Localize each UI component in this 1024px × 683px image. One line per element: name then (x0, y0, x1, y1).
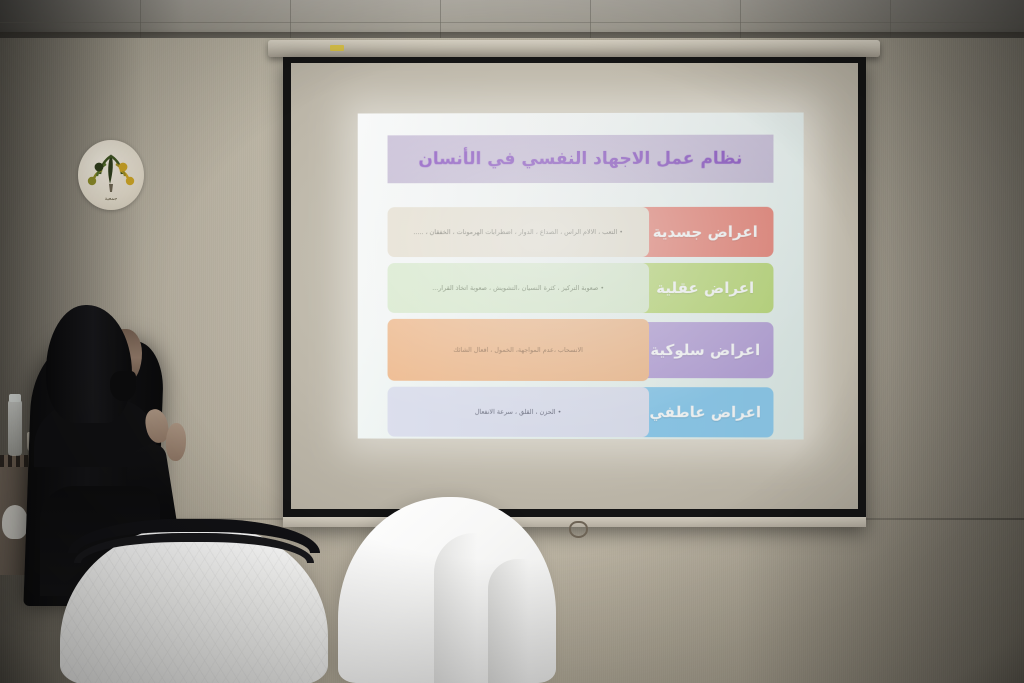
slide-row-mental: اعراض عقلية • صعوبة التركيز ، كثرة النسي… (388, 263, 774, 313)
row-body-emotional: • الحزن ، القلق ، سرعة الانفعال (388, 387, 650, 437)
row-body-physical: • التعب ، الالام الراس ، الصداع ، الدوار… (388, 207, 650, 257)
slide-row-physical: اعراض جسدية • التعب ، الالام الراس ، الص… (388, 207, 774, 257)
presenter-hand-right (165, 422, 188, 461)
slide-content: نظام عمل الاجهاد النفسي في الأنسان اعراض… (358, 113, 804, 440)
attendee-right-ghutra (338, 497, 556, 683)
attendee-right (330, 493, 570, 683)
slide-title-text: نظام عمل الاجهاد النفسي في الأنسان (418, 149, 742, 170)
row-body-mental: • صعوبة التركيز ، كثرة النسيان ،التشويش … (388, 263, 650, 313)
svg-text:جمعية: جمعية (105, 196, 118, 202)
row-tag-mental: اعراض عقلية (637, 263, 773, 313)
slide-rows: اعراض جسدية • التعب ، الالام الراس ، الص… (388, 207, 774, 440)
organization-logo: جمعية (78, 140, 144, 210)
row-text-physical: • التعب ، الالام الراس ، الصداع ، الدوار… (413, 228, 623, 237)
conference-room-scene: جمعية نظام عمل الاجهاد النفسي في الأنسان… (0, 0, 1024, 683)
slide-row-emotional: اعراض عاطفي • الحزن ، القلق ، سرعة الانف… (388, 387, 774, 438)
ghutra-fold (434, 533, 496, 683)
slide-title-bar: نظام عمل الاجهاد النفسي في الأنسان (388, 135, 774, 184)
presenter-chin-veil (110, 371, 136, 401)
row-text-mental: • صعوبة التركيز ، كثرة النسيان ،التشويش … (432, 284, 604, 293)
ghutra-fold-secondary (488, 559, 542, 683)
screen-pull-ring[interactable] (569, 521, 588, 538)
presenter-hijab (46, 305, 132, 423)
slide-row-behavioral: اعراض سلوكية الانسحاب ،عدم المواجهة، الخ… (388, 319, 774, 381)
row-tag-physical: اعراض جسدية (637, 207, 773, 257)
row-body-behavioral: الانسحاب ،عدم المواجهة، الخمول ، افعال ا… (388, 319, 650, 381)
projected-slide: نظام عمل الاجهاد النفسي في الأنسان اعراض… (358, 113, 804, 440)
row-tag-emotional: اعراض عاطفي (637, 387, 773, 437)
row-tag-behavioral: اعراض سلوكية (637, 322, 773, 378)
row-text-emotional: • الحزن ، القلق ، سرعة الانفعال (475, 407, 562, 416)
housing-sticker (330, 45, 344, 51)
projector-screen-roller-housing[interactable] (268, 40, 880, 57)
row-text-behavioral: الانسحاب ،عدم المواجهة، الخمول ، افعال ا… (453, 346, 583, 355)
attendee-left (44, 497, 344, 683)
